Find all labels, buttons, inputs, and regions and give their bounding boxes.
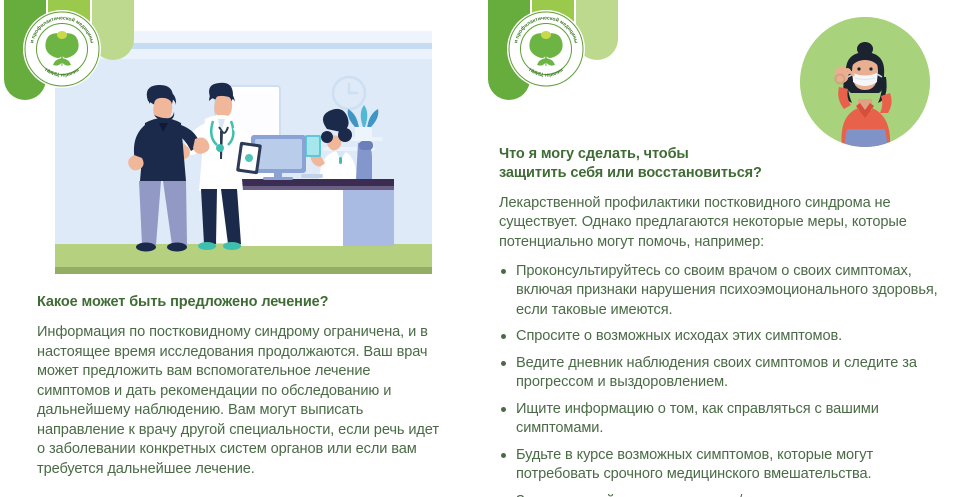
list-item: Заранее узнайте с кем связаться/куда и п… xyxy=(499,492,947,497)
portrait-svg xyxy=(800,17,930,147)
bullet-dot-icon xyxy=(501,269,506,274)
list-item-label: Спросите о возможных исходах этих симпто… xyxy=(516,328,842,344)
right-text-block: Что я могу сделать, чтобы защитить себя … xyxy=(499,145,947,497)
list-item-label: Ведите дневник наблюдения своих симптомо… xyxy=(516,355,917,390)
logo-emblem-icon-right: и профилактической медицины НМИЦ терапии xyxy=(507,10,585,88)
left-panel: и профилактической медицины НМИЦ терапии… xyxy=(0,0,480,497)
list-item-label: Проконсультируйтесь со своим врачом о св… xyxy=(516,263,938,318)
right-paragraph: Лекарственной профилактики постковидного… xyxy=(499,194,947,252)
nmic-tpm-logo: и профилактической медицины НМИЦ терапии xyxy=(0,0,135,140)
logo-badge: и профилактической медицины НМИЦ терапии xyxy=(23,10,101,88)
right-heading-line-1: Что я могу сделать, чтобы xyxy=(499,145,947,164)
bullet-dot-icon xyxy=(501,453,506,458)
list-item: Ведите дневник наблюдения своих симптомо… xyxy=(499,354,947,393)
recommendations-list: Проконсультируйтесь со своим врачом о св… xyxy=(499,262,947,497)
masked-woman-ok-gesture-portrait xyxy=(800,17,930,147)
list-item-label: Будьте в курсе возможных симптомов, кото… xyxy=(516,447,873,482)
list-item: Будьте в курсе возможных симптомов, кото… xyxy=(499,446,947,485)
list-item-label: Ищите информацию о том, как справляться … xyxy=(516,401,879,436)
nmic-tpm-logo-right: и профилактической медицины НМИЦ терапии xyxy=(484,0,619,140)
list-item: Спросите о возможных исходах этих симпто… xyxy=(499,327,947,346)
bullet-dot-icon xyxy=(501,361,506,366)
left-paragraph: Информация по постковидному синдрому огр… xyxy=(37,323,447,479)
list-item: Проконсультируйтесь со своим врачом о св… xyxy=(499,262,947,320)
left-text-block: Какое может быть предложено лечение? Инф… xyxy=(37,293,447,479)
list-item-label: Заранее узнайте с кем связаться/куда и п… xyxy=(516,493,907,497)
list-item: Ищите информацию о том, как справляться … xyxy=(499,400,947,439)
logo-emblem-icon: и профилактической медицины НМИЦ терапии xyxy=(23,10,101,88)
left-heading: Какое может быть предложено лечение? xyxy=(37,293,447,312)
right-panel: и профилактической медицины НМИЦ терапии xyxy=(480,0,960,497)
bullet-dot-icon xyxy=(501,334,506,339)
right-heading-line-2: защитить себя или восстановиться? xyxy=(499,164,947,183)
logo-badge-right: и профилактической медицины НМИЦ терапии xyxy=(507,10,585,88)
bullet-dot-icon xyxy=(501,407,506,412)
